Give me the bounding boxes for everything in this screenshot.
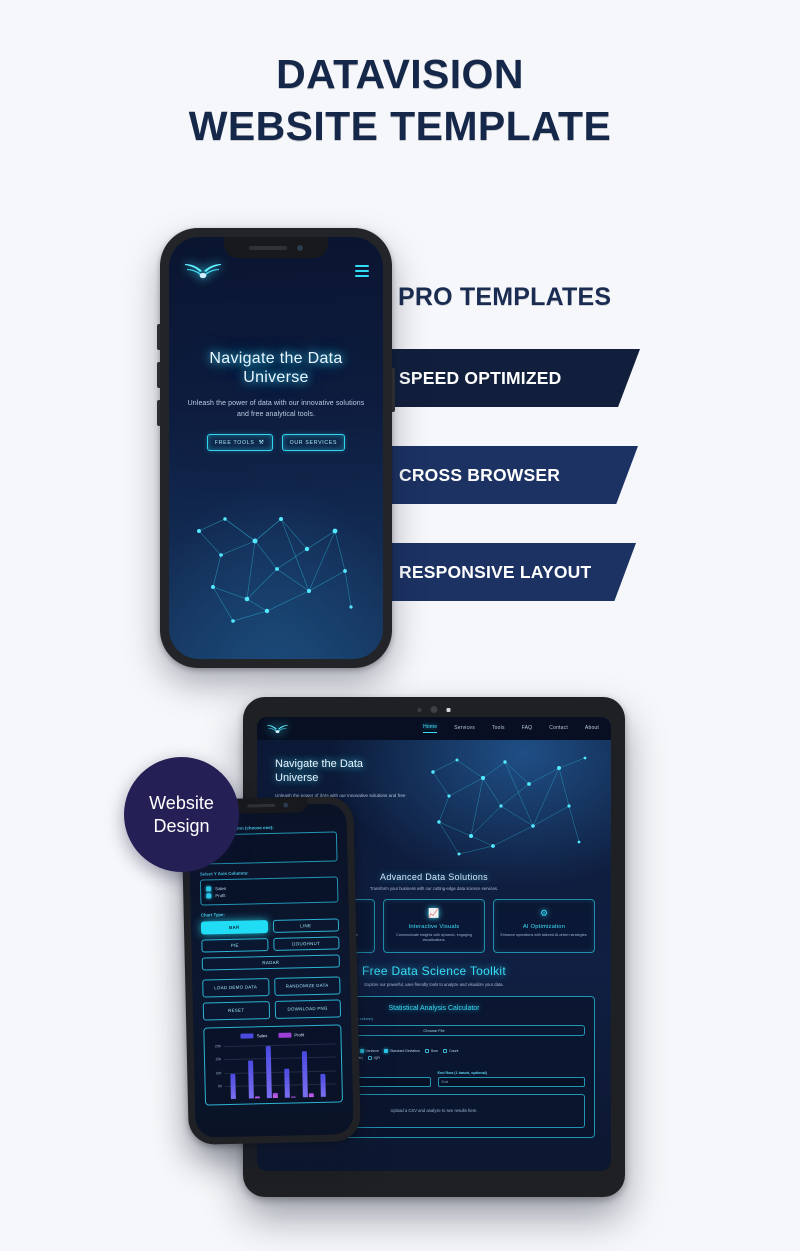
checkbox-box xyxy=(368,1056,372,1060)
legend-swatch xyxy=(278,1033,291,1038)
indicator-led-icon xyxy=(447,708,451,712)
button-label: DOUGHNUT xyxy=(292,941,320,947)
checkbox-iqr[interactable]: IQR xyxy=(368,1056,380,1060)
hero-headline-line-1: Navigate the Data xyxy=(209,350,342,367)
button-label: RANDOMIZE DATA xyxy=(286,983,329,989)
chart-bar-group xyxy=(247,1043,259,1099)
nav-item-about[interactable]: About xyxy=(585,725,599,733)
network-constellation-graphic xyxy=(409,744,605,864)
chart-bar-icon: 📈 xyxy=(389,907,479,919)
front-camera-icon xyxy=(431,706,438,713)
choose-file-label: Choose File xyxy=(423,1028,444,1033)
chart-bar-sales xyxy=(248,1060,254,1099)
checkbox-sum[interactable]: Sum xyxy=(425,1049,438,1053)
chart-bar-group xyxy=(265,1042,277,1098)
legend-label: Sales xyxy=(257,1033,268,1038)
button-label: RADAR xyxy=(262,960,279,966)
y-axis-section: Select Y Axis Columns: Sales Profit xyxy=(200,868,339,905)
hero-button-group: FREE TOOLS ⚒ OUR SERVICES xyxy=(187,434,365,451)
chart-bar-sales xyxy=(230,1074,236,1099)
badge-line-2: Design xyxy=(149,815,214,838)
chart-type-bar-button[interactable]: BAR xyxy=(201,920,268,935)
chart-bar-sales xyxy=(265,1046,271,1098)
chart-bar-profit xyxy=(290,1097,295,1098)
checkbox-label: Profit xyxy=(215,893,225,898)
checkbox-label: Sum xyxy=(431,1049,438,1053)
phone-notch xyxy=(227,797,307,814)
chart-type-pie-button[interactable]: PIE xyxy=(201,938,268,953)
banner-label: RESPONSIVE LAYOUT xyxy=(399,562,591,583)
showcase-canvas: DATAVISION WEBSITE TEMPLATE PRO TEMPLATE… xyxy=(0,0,800,1251)
button-label: BAR xyxy=(229,924,240,930)
chart-bar-sales xyxy=(301,1051,307,1098)
nav-item-services[interactable]: Services xyxy=(454,725,475,733)
chart-type-label: Chart Type: xyxy=(201,909,339,917)
speaker-grille-icon xyxy=(249,246,287,250)
end-row-value: End xyxy=(442,1080,448,1084)
phone-mockup-hero: Navigate the Data Universe Unleash the p… xyxy=(160,228,392,668)
checkbox-label: Count xyxy=(449,1049,458,1053)
checkbox-label: Standard Deviation xyxy=(390,1049,420,1053)
button-label: LINE xyxy=(300,923,311,929)
our-services-label: OUR SERVICES xyxy=(290,440,338,446)
card-title: Interactive Visuals xyxy=(389,924,479,930)
chart-bar-group xyxy=(229,1043,241,1099)
tablet-site-navbar: Home Services Tools FAQ Contact About xyxy=(257,717,611,740)
chart-type-button-grid: BAR LINE PIE DOUGHNUT RADAR xyxy=(201,918,340,970)
checkbox-label: IQR xyxy=(374,1056,380,1060)
hero-headline-line-2: Universe xyxy=(243,369,309,386)
checkbox-variance[interactable]: Variance xyxy=(360,1049,380,1053)
banner-label: SPEED OPTIMIZED xyxy=(399,368,561,389)
button-label: RESET xyxy=(228,1008,244,1014)
y-axis-columns-label: Select Y Axis Columns: xyxy=(200,868,338,876)
tool-action-button-grid: LOAD DEMO DATA RANDOMIZE DATA RESET DOWN… xyxy=(202,976,341,1020)
checkbox-box xyxy=(384,1049,388,1053)
card-title: AI Optimization xyxy=(499,924,589,930)
card-body: Enhance operations with tailored AI-driv… xyxy=(499,933,589,938)
chart-bar-group xyxy=(319,1041,331,1097)
nav-item-faq[interactable]: FAQ xyxy=(522,725,533,733)
tablet-hero-headline-line-1: Navigate the Data xyxy=(275,758,363,770)
pro-templates-heading: PRO TEMPLATES xyxy=(398,283,611,312)
banner-label: CROSS BROWSER xyxy=(399,465,560,486)
solution-card-interactive-visuals[interactable]: 📈 Interactive Visuals Communicate insigh… xyxy=(383,899,485,953)
end-row-field-group: End Row (1 based, optional) End xyxy=(438,1065,586,1087)
legend-entry-profit: Profit xyxy=(278,1032,304,1038)
page-title-line-1: DATAVISION xyxy=(0,48,800,100)
checkbox-box xyxy=(443,1049,447,1053)
randomize-data-button[interactable]: RANDOMIZE DATA xyxy=(274,976,341,996)
hamburger-menu-icon[interactable] xyxy=(355,265,369,277)
y-axis-columns-list: Sales Profit xyxy=(200,876,339,905)
results-placeholder-text: Upload a CSV and analyze to see results … xyxy=(390,1108,477,1113)
nav-item-tools[interactable]: Tools xyxy=(492,725,505,733)
speaker-grille-icon xyxy=(247,804,275,808)
download-png-button[interactable]: DOWNLOAD PNG xyxy=(274,999,341,1019)
y-tick-label: 150 xyxy=(215,1058,221,1062)
legend-label: Profit xyxy=(294,1032,304,1037)
phone-notch xyxy=(224,237,328,258)
chart-bars xyxy=(226,1041,335,1099)
chart-plot-area: 50100150200 xyxy=(210,1041,337,1100)
checkbox-box xyxy=(206,893,211,898)
hero-copy: Navigate the Data Universe Unleash the p… xyxy=(169,349,383,451)
tools-icon: ⚒ xyxy=(259,439,265,446)
wings-logo-icon[interactable] xyxy=(266,722,289,736)
tablet-sensor-array xyxy=(418,706,451,713)
solution-card-ai-optimization[interactable]: ⚙ AI Optimization Enhance operations wit… xyxy=(493,899,595,953)
chart-type-line-button[interactable]: LINE xyxy=(272,918,339,933)
front-camera-icon xyxy=(283,803,288,808)
end-row-input[interactable]: End xyxy=(438,1077,586,1087)
chart-bar-sales xyxy=(284,1068,290,1098)
chart-bar-group xyxy=(301,1041,313,1097)
chart-bar-group xyxy=(283,1042,295,1098)
chart-preview-panel: Sales Profit 50100150200 xyxy=(203,1024,343,1105)
checkbox-label: Variance xyxy=(366,1049,380,1053)
button-label: LOAD DEMO DATA xyxy=(214,985,257,991)
checkbox-box xyxy=(360,1049,364,1053)
button-label: PIE xyxy=(231,942,239,948)
network-constellation-graphic xyxy=(169,459,383,649)
feature-banner-responsive-layout: RESPONSIVE LAYOUT xyxy=(382,543,636,601)
y-tick-label: 50 xyxy=(218,1084,222,1088)
page-title-line-2: WEBSITE TEMPLATE xyxy=(0,100,800,152)
page-title: DATAVISION WEBSITE TEMPLATE xyxy=(0,48,800,152)
chart-y-axis: 50100150200 xyxy=(210,1044,224,1100)
badge-line-1: Website xyxy=(149,792,214,815)
our-services-button[interactable]: OUR SERVICES xyxy=(282,434,346,451)
card-body: Communicate insights with dynamic, engag… xyxy=(389,933,479,944)
chart-legend: Sales Profit xyxy=(209,1032,335,1040)
website-design-badge: Website Design xyxy=(124,757,239,872)
ambient-sensor-icon xyxy=(418,708,422,712)
chart-bar-profit xyxy=(254,1097,259,1099)
tablet-hero-headline-line-2: Universe xyxy=(275,772,318,784)
hero-subtext: Unleash the power of data with our innov… xyxy=(187,398,365,420)
free-tools-label: FREE TOOLS xyxy=(215,440,255,446)
chart-bar-profit xyxy=(272,1092,277,1098)
checkbox-standard-deviation[interactable]: Standard Deviation xyxy=(384,1049,420,1053)
checkbox-label: Sales xyxy=(215,886,226,891)
site-header xyxy=(169,254,383,288)
legend-entry-sales: Sales xyxy=(241,1033,268,1039)
load-demo-data-button[interactable]: LOAD DEMO DATA xyxy=(202,978,269,998)
nav-item-home[interactable]: Home xyxy=(423,724,437,733)
checkbox-box xyxy=(206,886,211,891)
feature-banner-speed-optimized: SPEED OPTIMIZED xyxy=(382,349,640,407)
front-camera-icon xyxy=(297,245,303,251)
hero-headline: Navigate the Data Universe xyxy=(187,349,365,387)
chart-type-doughnut-button[interactable]: DOUGHNUT xyxy=(273,936,340,951)
y-tick-label: 100 xyxy=(216,1071,222,1075)
chart-type-section: Chart Type: BAR LINE PIE DOUGHNUT RADAR xyxy=(201,909,340,970)
chart-bar-profit xyxy=(308,1093,313,1097)
phone-screen-hero: Navigate the Data Universe Unleash the p… xyxy=(169,237,383,659)
feature-banner-cross-browser: CROSS BROWSER xyxy=(382,446,638,504)
checkbox-box xyxy=(425,1049,429,1053)
button-label: DOWNLOAD PNG xyxy=(287,1006,327,1012)
chart-type-radar-button[interactable]: RADAR xyxy=(202,954,340,970)
wings-logo-icon[interactable] xyxy=(183,259,223,283)
free-tools-button[interactable]: FREE TOOLS ⚒ xyxy=(207,434,273,451)
nav-item-contact[interactable]: Contact xyxy=(549,725,568,733)
reset-button[interactable]: RESET xyxy=(203,1001,270,1021)
gears-icon: ⚙ xyxy=(499,907,589,919)
y-tick-label: 200 xyxy=(215,1044,221,1048)
chart-bar-sales xyxy=(320,1074,326,1098)
checkbox-count[interactable]: Count xyxy=(443,1049,458,1053)
legend-swatch xyxy=(241,1034,254,1039)
end-row-label: End Row (1 based, optional) xyxy=(438,1071,586,1075)
tablet-nav-links: Home Services Tools FAQ Contact About xyxy=(423,724,599,733)
y-axis-checkbox-profit[interactable]: Profit xyxy=(206,891,332,899)
